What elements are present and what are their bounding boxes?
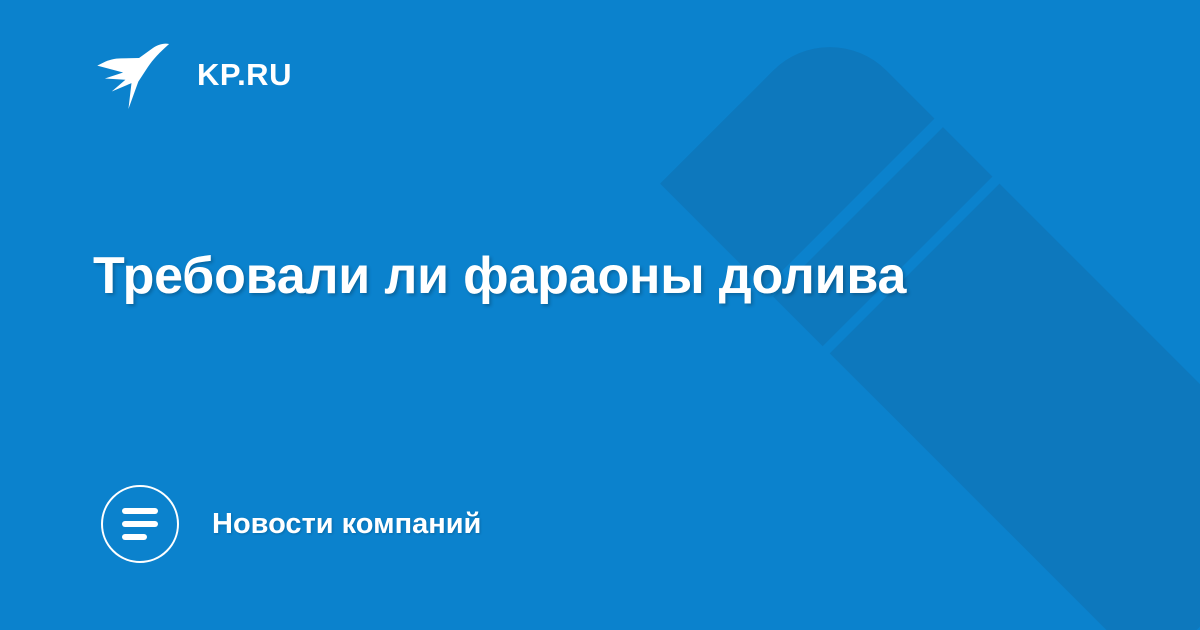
page-title: Требовали ли фараоны долива [93, 246, 1103, 306]
brand-name-label: KP.RU [197, 59, 292, 90]
menu-bar-middle [122, 521, 158, 527]
swallow-bird-icon [95, 36, 171, 112]
pencil-icon [660, 14, 1200, 630]
category-row[interactable]: Новости компаний [101, 483, 481, 565]
brand-logo[interactable]: KP.RU [95, 36, 292, 112]
category-label: Новости компаний [212, 510, 481, 539]
menu-bar-bottom [122, 534, 147, 540]
og-share-card: KP.RU Требовали ли фараоны долива Новост… [0, 0, 1200, 630]
hamburger-menu-icon[interactable] [101, 485, 179, 563]
menu-bar-top [122, 508, 158, 514]
